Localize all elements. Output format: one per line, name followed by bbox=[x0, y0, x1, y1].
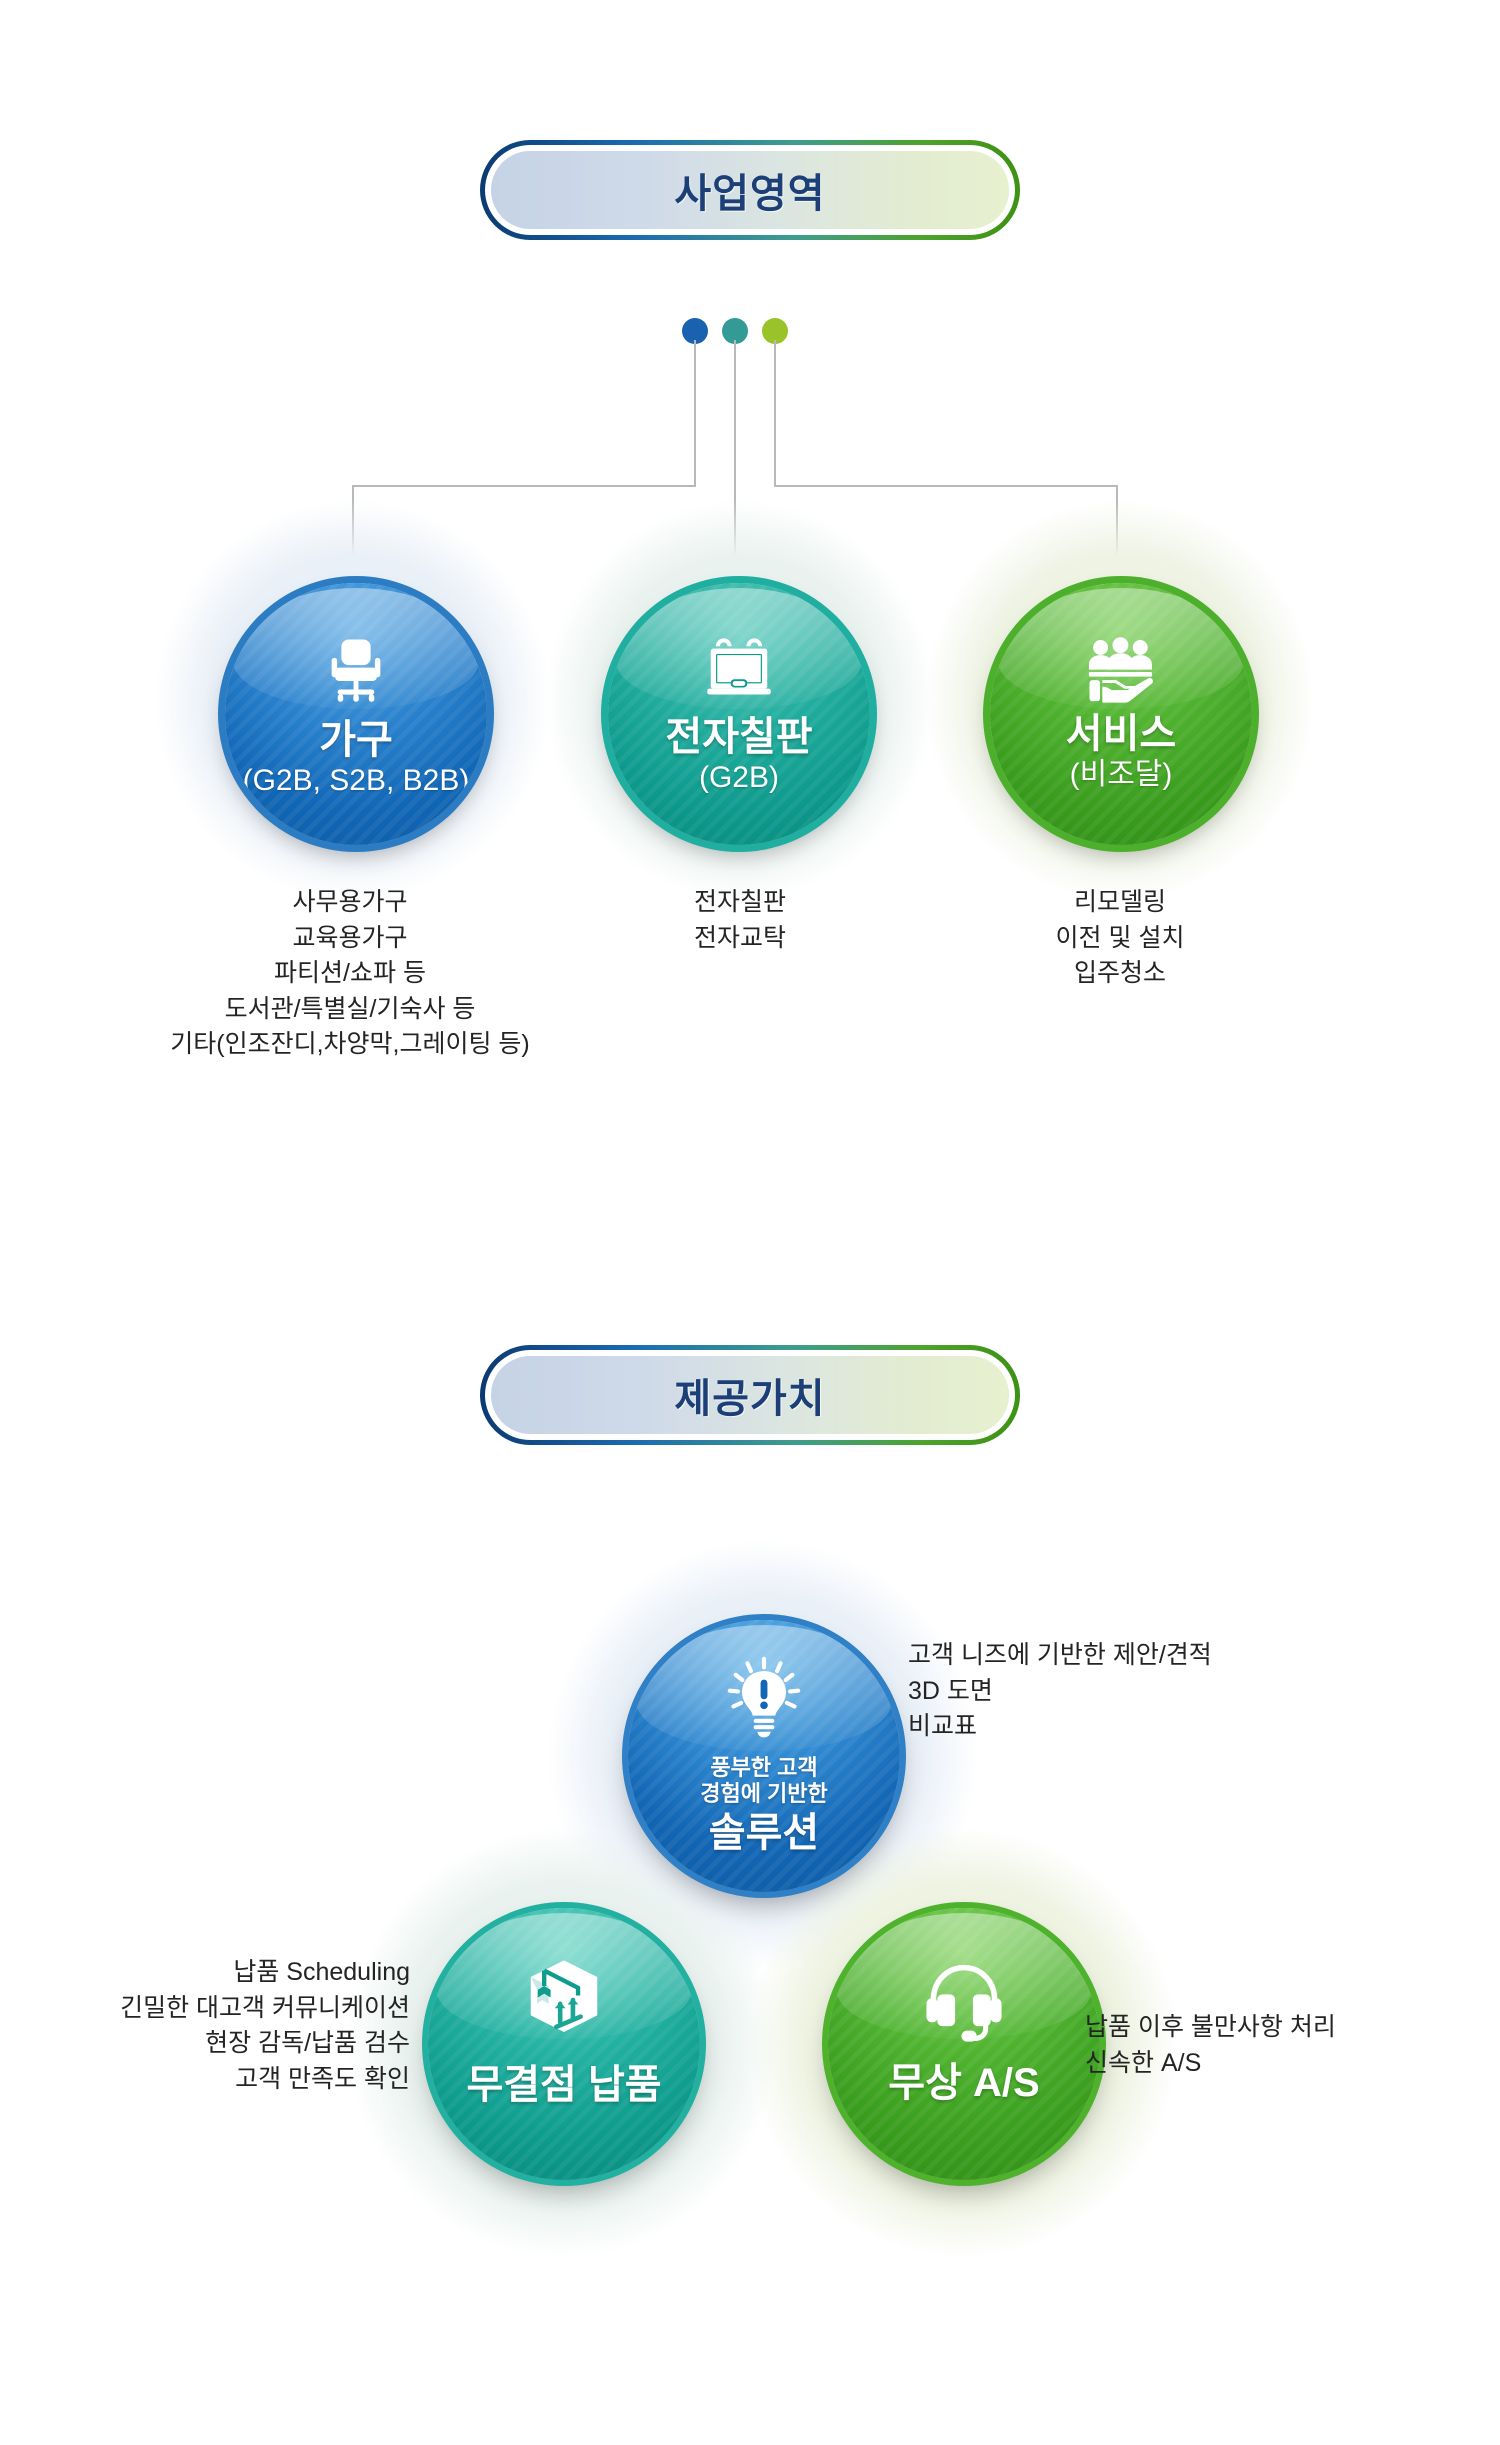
list-item: 납품 이후 불만사항 처리 bbox=[1085, 2010, 1500, 2046]
node-whiteboard[interactable]: 전자칠판 (G2B) bbox=[608, 583, 870, 845]
list-solution: 고객 니즈에 기반한 제안/견적 3D 도면 비교표 bbox=[908, 1638, 1378, 1745]
stem-right bbox=[774, 340, 776, 486]
list-item: 도서관/특별실/기숙사 등 bbox=[0, 992, 700, 1028]
list-item: 현장 감독/납품 검수 bbox=[10, 2026, 410, 2062]
pill-white-gap: 제공가치 bbox=[485, 1350, 1015, 1440]
node-service-sub: (비조달) bbox=[1070, 758, 1173, 791]
node-furniture-sub: (G2B, S2B, B2B) bbox=[243, 764, 470, 797]
node-furniture[interactable]: 가구 (G2B, S2B, B2B) bbox=[225, 583, 487, 845]
package-box-icon bbox=[518, 1954, 610, 2051]
node-solution-pretitle-line1: 풍부한 고객 bbox=[710, 1755, 817, 1781]
list-item: 납품 Scheduling bbox=[10, 1955, 410, 1991]
node-delivery[interactable]: 무결점 납품 bbox=[428, 1908, 700, 2180]
node-furniture-title: 가구 bbox=[319, 720, 393, 762]
node-whiteboard-sub: (G2B) bbox=[699, 761, 779, 794]
stem-left bbox=[694, 340, 696, 486]
list-whiteboard: 전자칠판 전자교탁 bbox=[540, 885, 940, 956]
headset-icon bbox=[918, 1960, 1010, 2049]
section2-header-pill: 제공가치 bbox=[480, 1345, 1020, 1445]
node-aftersales[interactable]: 무상 A/S bbox=[828, 1908, 1100, 2180]
section1-connector bbox=[0, 0, 1500, 560]
list-item: 고객 니즈에 기반한 제안/견적 bbox=[908, 1638, 1378, 1674]
list-item: 긴밀한 대고객 커뮤니케이션 bbox=[10, 1991, 410, 2027]
node-service[interactable]: 서비스 (비조달) bbox=[990, 583, 1252, 845]
lightbulb-icon bbox=[720, 1654, 808, 1747]
whiteboard-icon bbox=[699, 634, 779, 713]
node-solution-title: 솔루션 bbox=[709, 1813, 819, 1855]
list-item: 신속한 A/S bbox=[1085, 2046, 1500, 2082]
list-item: 전자교탁 bbox=[540, 921, 940, 957]
office-chair-icon bbox=[317, 631, 395, 714]
branch-right bbox=[774, 485, 1118, 487]
people-hand-icon bbox=[1079, 637, 1163, 712]
list-item: 고객 만족도 확인 bbox=[10, 2062, 410, 2098]
list-aftersales: 납품 이후 불만사항 처리 신속한 A/S bbox=[1085, 2010, 1500, 2081]
section2-title: 제공가치 bbox=[674, 1366, 825, 1424]
list-item: 파티션/쇼파 등 bbox=[0, 956, 700, 992]
node-whiteboard-title: 전자칠판 bbox=[665, 717, 812, 759]
list-item: 이전 및 설치 bbox=[925, 921, 1315, 957]
node-aftersales-title: 무상 A/S bbox=[888, 2063, 1039, 2105]
list-delivery: 납품 Scheduling 긴밀한 대고객 커뮤니케이션 현장 감독/납품 검수… bbox=[10, 1955, 410, 2097]
node-delivery-title: 무결점 납품 bbox=[466, 2065, 661, 2107]
list-item: 비교표 bbox=[908, 1709, 1378, 1745]
branch-left bbox=[352, 485, 696, 487]
list-item: 리모델링 bbox=[925, 885, 1315, 921]
pill-fill: 제공가치 bbox=[491, 1356, 1009, 1434]
list-item: 3D 도면 bbox=[908, 1674, 1378, 1710]
list-item: 입주청소 bbox=[925, 956, 1315, 992]
list-item: 기타(인조잔디,차양막,그레이팅 등) bbox=[0, 1027, 700, 1063]
list-item: 전자칠판 bbox=[540, 885, 940, 921]
pill-gradient-border: 제공가치 bbox=[480, 1345, 1020, 1445]
node-service-title: 서비스 bbox=[1066, 714, 1176, 756]
node-solution-pretitle-line2: 경험에 기반한 bbox=[700, 1781, 828, 1807]
node-solution[interactable]: 풍부한 고객 경험에 기반한 솔루션 bbox=[628, 1620, 900, 1892]
list-service: 리모델링 이전 및 설치 입주청소 bbox=[925, 885, 1315, 992]
